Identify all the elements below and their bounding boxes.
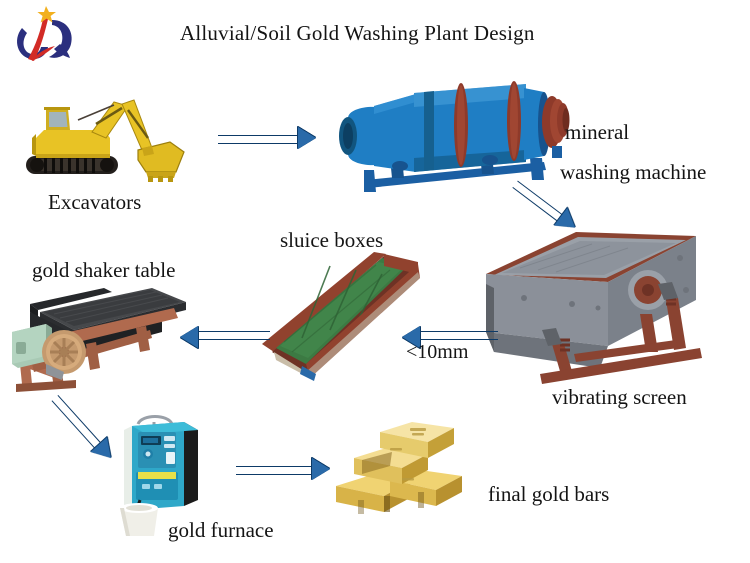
company-logo [8, 6, 80, 68]
excavator-icon [18, 80, 208, 190]
furnace-label: gold furnace [168, 518, 274, 542]
shaker-table-icon [2, 268, 192, 393]
page-title: Alluvial/Soil Gold Washing Plant Design [180, 21, 535, 45]
vibscreen-label: vibrating screen [552, 385, 687, 409]
gold-bars-icon [332, 420, 492, 520]
excavator-label: Excavators [48, 190, 141, 214]
arrow-furnace-to-goldbars [236, 458, 336, 480]
vibrating-screen-icon [480, 228, 745, 388]
trommel-label-line1: mineral [565, 120, 629, 144]
sluice-box-icon [258, 248, 428, 383]
arrow-excavator-to-trommel [218, 126, 318, 150]
trommel-label-line2: washing machine [560, 160, 706, 184]
sluice-label: sluice boxes [280, 228, 383, 252]
goldbars-label: final gold bars [488, 482, 609, 506]
shaker-label: gold shaker table [32, 258, 175, 282]
